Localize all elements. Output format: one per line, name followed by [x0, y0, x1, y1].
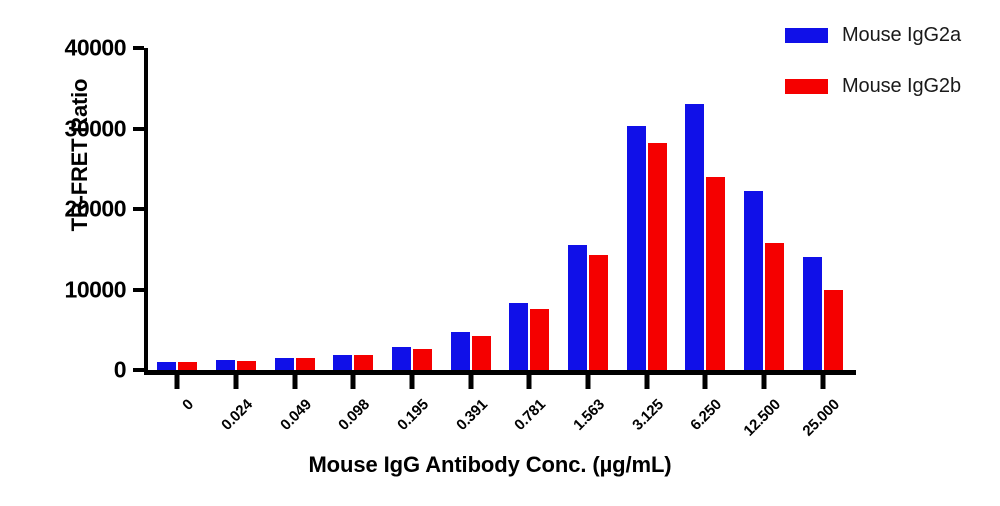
bar-igg2a	[509, 303, 528, 370]
x-axis-tick-label: 0	[180, 396, 198, 414]
legend-item-series-0: Mouse IgG2a	[785, 24, 961, 47]
bar-igg2a	[685, 104, 704, 370]
bar-igg2a	[216, 360, 235, 370]
x-axis-tick-label: 0.781	[511, 396, 549, 434]
x-axis-tick-label: 6.250	[687, 396, 725, 434]
bar-igg2a	[392, 347, 411, 370]
y-axis-tick	[133, 368, 144, 372]
bar-igg2b	[648, 143, 667, 370]
x-axis-tick-label: 3.125	[629, 396, 667, 434]
chart-figure: Mouse IgG2a Mouse IgG2b TR-FRET Ratio Mo…	[0, 0, 1000, 506]
bar-igg2a	[803, 257, 822, 371]
x-axis-tick-label: 0.098	[335, 396, 373, 434]
y-axis-tick-label: 10000	[65, 276, 126, 303]
bar-igg2a	[627, 126, 646, 370]
bar-igg2a	[157, 362, 176, 370]
x-axis-tick-label: 1.563	[570, 396, 608, 434]
bar-igg2b	[706, 177, 725, 370]
x-axis-tick	[586, 375, 591, 389]
legend-swatch-icon	[785, 28, 828, 43]
y-axis-tick-label: 0	[114, 357, 126, 384]
bar-igg2a	[568, 245, 587, 370]
x-axis-tick-label: 0.024	[218, 396, 256, 434]
bar-igg2b	[765, 243, 784, 370]
plot-area: 01000020000300004000000.0240.0490.0980.1…	[148, 48, 852, 370]
x-axis-line	[144, 370, 856, 375]
x-axis-tick-label: 12.500	[740, 396, 784, 440]
x-axis-tick	[351, 375, 356, 389]
x-axis-tick	[175, 375, 180, 389]
x-axis-tick	[644, 375, 649, 389]
x-axis-title: Mouse IgG Antibody Conc. (µg/mL)	[140, 452, 840, 478]
y-axis-tick-label: 20000	[65, 196, 126, 223]
x-axis-tick	[703, 375, 708, 389]
bar-igg2b	[178, 362, 197, 370]
y-axis-tick-label: 30000	[65, 115, 126, 142]
x-axis-tick-label: 0.049	[277, 396, 315, 434]
x-axis-tick	[410, 375, 415, 389]
x-axis-tick	[468, 375, 473, 389]
bar-igg2a	[333, 355, 352, 370]
bar-igg2b	[354, 355, 373, 370]
legend-label-series-1: Mouse IgG2b	[842, 75, 961, 98]
x-axis-tick	[820, 375, 825, 389]
legend-label-series-0: Mouse IgG2a	[842, 24, 961, 47]
y-axis-tick	[133, 207, 144, 211]
bar-igg2b	[589, 255, 608, 370]
bar-igg2b	[472, 336, 491, 370]
x-axis-tick-label: 0.391	[453, 396, 491, 434]
x-axis-tick-label: 25.000	[799, 396, 843, 440]
bar-igg2b	[413, 349, 432, 370]
bar-igg2b	[824, 290, 843, 371]
x-axis-tick	[234, 375, 239, 389]
bar-igg2b	[237, 361, 256, 370]
y-axis-tick	[133, 288, 144, 292]
bar-igg2b	[296, 358, 315, 370]
x-axis-tick-label: 0.195	[394, 396, 432, 434]
bar-igg2a	[451, 332, 470, 370]
y-axis-line	[144, 48, 148, 374]
x-axis-tick	[527, 375, 532, 389]
y-axis-tick-label: 40000	[65, 35, 126, 62]
y-axis-tick	[133, 46, 144, 50]
x-axis-tick	[762, 375, 767, 389]
bar-igg2b	[530, 309, 549, 370]
y-axis-tick	[133, 127, 144, 131]
x-axis-tick	[292, 375, 297, 389]
bar-igg2a	[275, 358, 294, 370]
bar-igg2a	[744, 191, 763, 370]
